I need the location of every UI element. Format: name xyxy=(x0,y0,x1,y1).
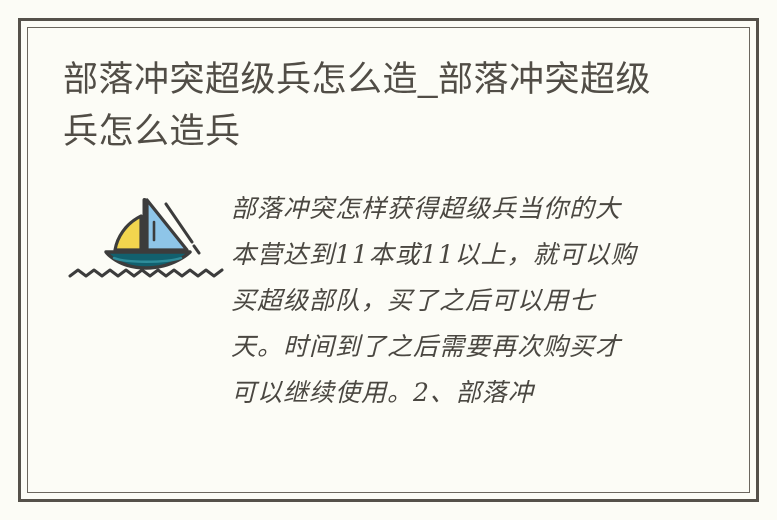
sailboat-icon xyxy=(68,190,224,280)
article-thumbnail xyxy=(61,186,231,280)
article-summary: 部落冲突怎样获得超级兵当你的大本营达到11本或11以上，就可以购买超级部队，买了… xyxy=(231,186,646,416)
card-content: 部落冲突超级兵怎么造_部落冲突超级兵怎么造兵 xyxy=(27,27,750,493)
page-title: 部落冲突超级兵怎么造_部落冲突超级兵怎么造兵 xyxy=(61,54,663,158)
article-card: 部落冲突超级兵怎么造_部落冲突超级兵怎么造兵 xyxy=(0,0,777,520)
article-preview: 部落冲突怎样获得超级兵当你的大本营达到11本或11以上，就可以购买超级部队，买了… xyxy=(61,186,716,416)
